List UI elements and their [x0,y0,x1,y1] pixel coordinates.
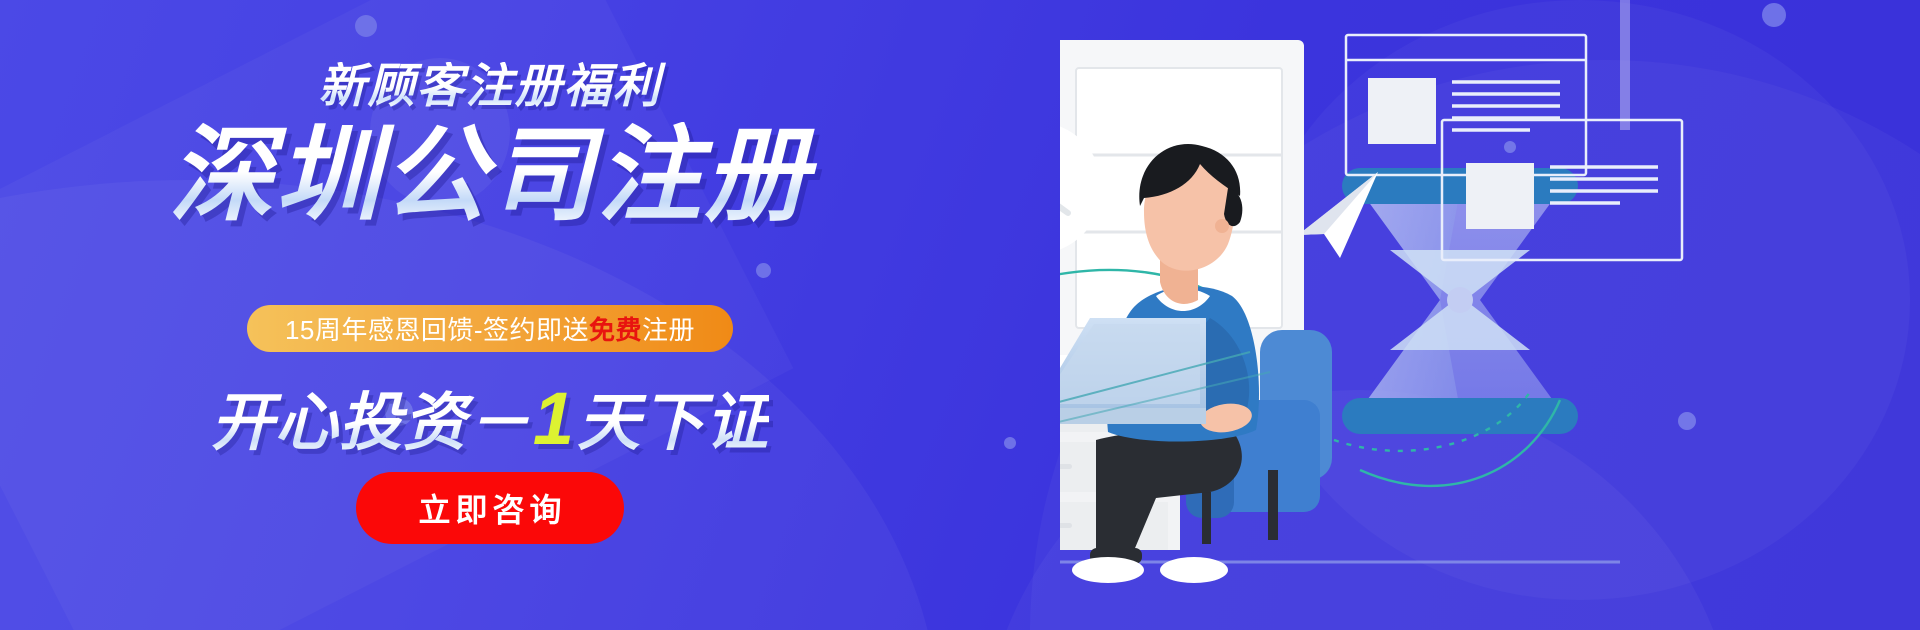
tagline-prefix: 开心投资－ [211,388,531,458]
kicker-text: 新顾客注册福利 [0,62,980,109]
cta-container: 立即咨询 [0,472,980,544]
promo-pill-container: 15周年感恩回馈-签约即送免费注册 [0,305,980,352]
decor-dot-tagline [1004,437,1016,449]
tagline-suffix: 天下证 [577,388,769,458]
art-glow [1250,0,1910,600]
promo-prefix: 15周年感恩回馈-签约即送 [285,310,589,347]
promo-suffix: 注册 [642,310,695,347]
page-title: 深圳公司注册 [0,122,980,231]
consult-now-button[interactable]: 立即咨询 [356,472,624,544]
hourglass-cap-top [1342,168,1578,204]
document-card-back-thumb [1368,78,1436,144]
illustration-man-working [1060,0,1920,630]
person-shoe-front [1072,557,1144,583]
wall-panel-right [1620,0,1630,130]
tagline-number: 1 [531,377,577,460]
promo-highlight: 免费 [589,310,642,347]
copy-column: 新顾客注册福利 深圳公司注册 15周年感恩回馈-签约即送免费注册 开心投资－1天… [0,0,980,630]
promo-banner: 新顾客注册福利 深圳公司注册 15周年感恩回馈-签约即送免费注册 开心投资－1天… [0,0,1920,630]
promo-pill: 15周年感恩回馈-签约即送免费注册 [247,305,733,352]
document-card-front-thumb [1466,163,1534,229]
person-shoe-back [1160,557,1228,583]
tagline: 开心投资－1天下证 [0,382,980,456]
